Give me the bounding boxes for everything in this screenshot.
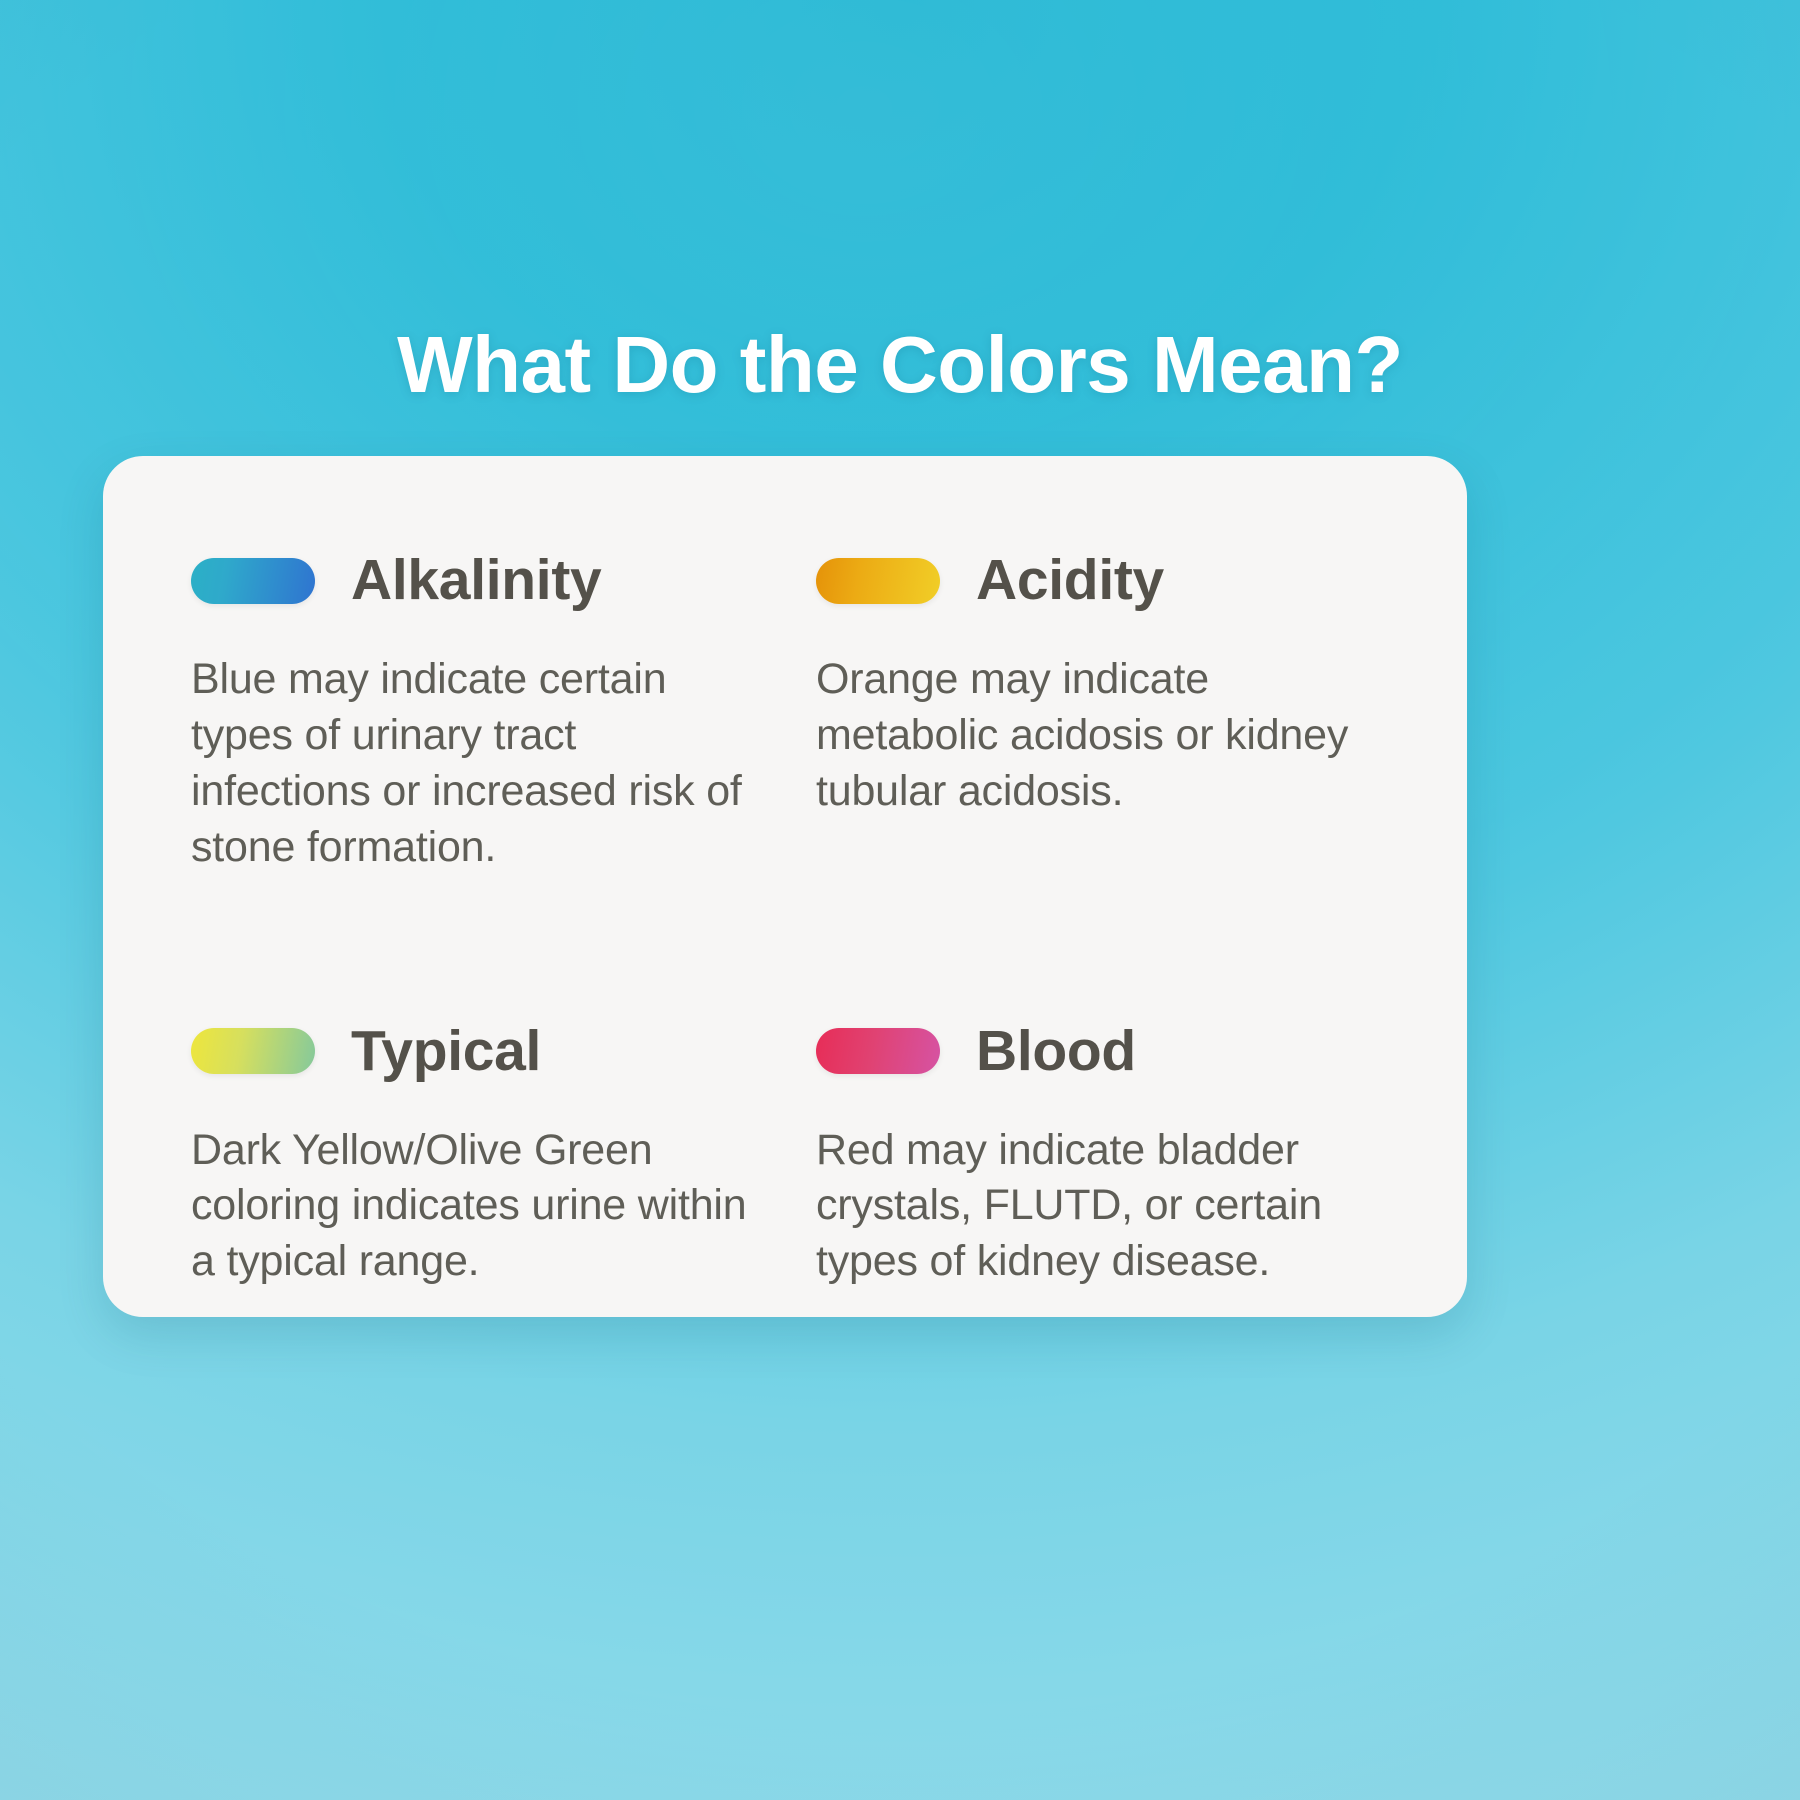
legend-grid: Alkalinity Blue may indicate certain typ… xyxy=(191,552,1379,1233)
legend-item-alkalinity-header: Alkalinity xyxy=(191,552,816,609)
color-swatch-alkalinity-icon xyxy=(191,558,315,604)
legend-item-blood-header: Blood xyxy=(816,1023,1379,1080)
page-root: What Do the Colors Mean? Alkalinity Blue… xyxy=(0,0,1800,1800)
legend-item-acidity-label: Acidity xyxy=(976,552,1164,609)
legend-item-alkalinity-label: Alkalinity xyxy=(351,552,601,609)
color-swatch-blood-icon xyxy=(816,1028,940,1074)
legend-item-alkalinity: Alkalinity Blue may indicate certain typ… xyxy=(191,552,816,919)
legend-item-typical-label: Typical xyxy=(351,1023,541,1080)
color-swatch-acidity-icon xyxy=(816,558,940,604)
legend-item-blood: Blood Red may indicate bladder crystals,… xyxy=(816,1023,1379,1334)
color-legend-card: Alkalinity Blue may indicate certain typ… xyxy=(103,456,1467,1317)
legend-item-alkalinity-description: Blue may indicate certain types of urina… xyxy=(191,652,751,876)
legend-item-blood-description: Red may indicate bladder crystals, FLUTD… xyxy=(816,1123,1379,1291)
legend-item-typical-header: Typical xyxy=(191,1023,816,1080)
legend-item-acidity-description: Orange may indicate metabolic acidosis o… xyxy=(816,652,1379,820)
legend-item-acidity-header: Acidity xyxy=(816,552,1379,609)
legend-item-typical: Typical Dark Yellow/Olive Green coloring… xyxy=(191,1023,816,1334)
legend-item-blood-label: Blood xyxy=(976,1023,1136,1080)
legend-item-typical-description: Dark Yellow/Olive Green coloring indicat… xyxy=(191,1123,751,1291)
legend-item-acidity: Acidity Orange may indicate metabolic ac… xyxy=(816,552,1379,919)
page-title: What Do the Colors Mean? xyxy=(0,322,1800,408)
color-swatch-typical-icon xyxy=(191,1028,315,1074)
